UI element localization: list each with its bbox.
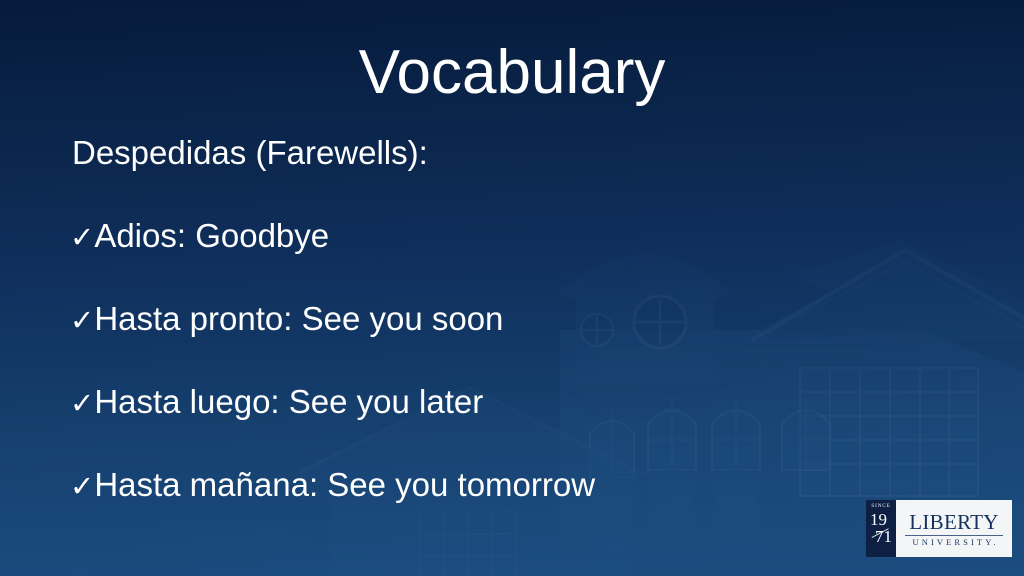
body-lead-text: Despedidas (Farewells):: [72, 136, 970, 169]
checkmark-icon: ✓: [70, 389, 94, 418]
logo-crest-badge: SINCE 19 71: [866, 500, 896, 557]
checkmark-icon: ✓: [70, 223, 94, 252]
logo-founding-year: 19 71: [869, 511, 893, 551]
logo-since-label: SINCE: [871, 504, 890, 510]
logo-divider-rule: [905, 535, 1003, 536]
logo-wordmark-primary: LIBERTY: [905, 512, 1003, 533]
slide-title: Vocabulary: [0, 42, 1024, 104]
list-item: ✓Adios: Goodbye: [70, 219, 970, 252]
presentation-slide: Vocabulary Despedidas (Farewells): ✓Adio…: [0, 0, 1024, 576]
list-item: ✓Hasta mañana: See you tomorrow: [70, 468, 970, 501]
list-item-label: Adios: Goodbye: [94, 217, 329, 254]
list-item: ✓Hasta pronto: See you soon: [70, 302, 970, 335]
logo-wordmark-secondary: UNIVERSITY.: [905, 538, 1003, 547]
logo-year-bottom: 71: [875, 528, 892, 545]
list-item-label: Hasta luego: See you later: [94, 383, 483, 420]
list-item: ✓Hasta luego: See you later: [70, 385, 970, 418]
logo-wordmark-plate: LIBERTY UNIVERSITY.: [896, 500, 1012, 557]
checkmark-icon: ✓: [70, 306, 94, 335]
list-item-label: Hasta mañana: See you tomorrow: [94, 466, 595, 503]
list-item-label: Hasta pronto: See you soon: [94, 300, 503, 337]
liberty-university-logo: SINCE 19 71 LIBERTY UNIVERSITY.: [866, 500, 1012, 557]
slide-body: Despedidas (Farewells): ✓Adios: Goodbye …: [70, 136, 970, 501]
checkmark-icon: ✓: [70, 472, 94, 501]
